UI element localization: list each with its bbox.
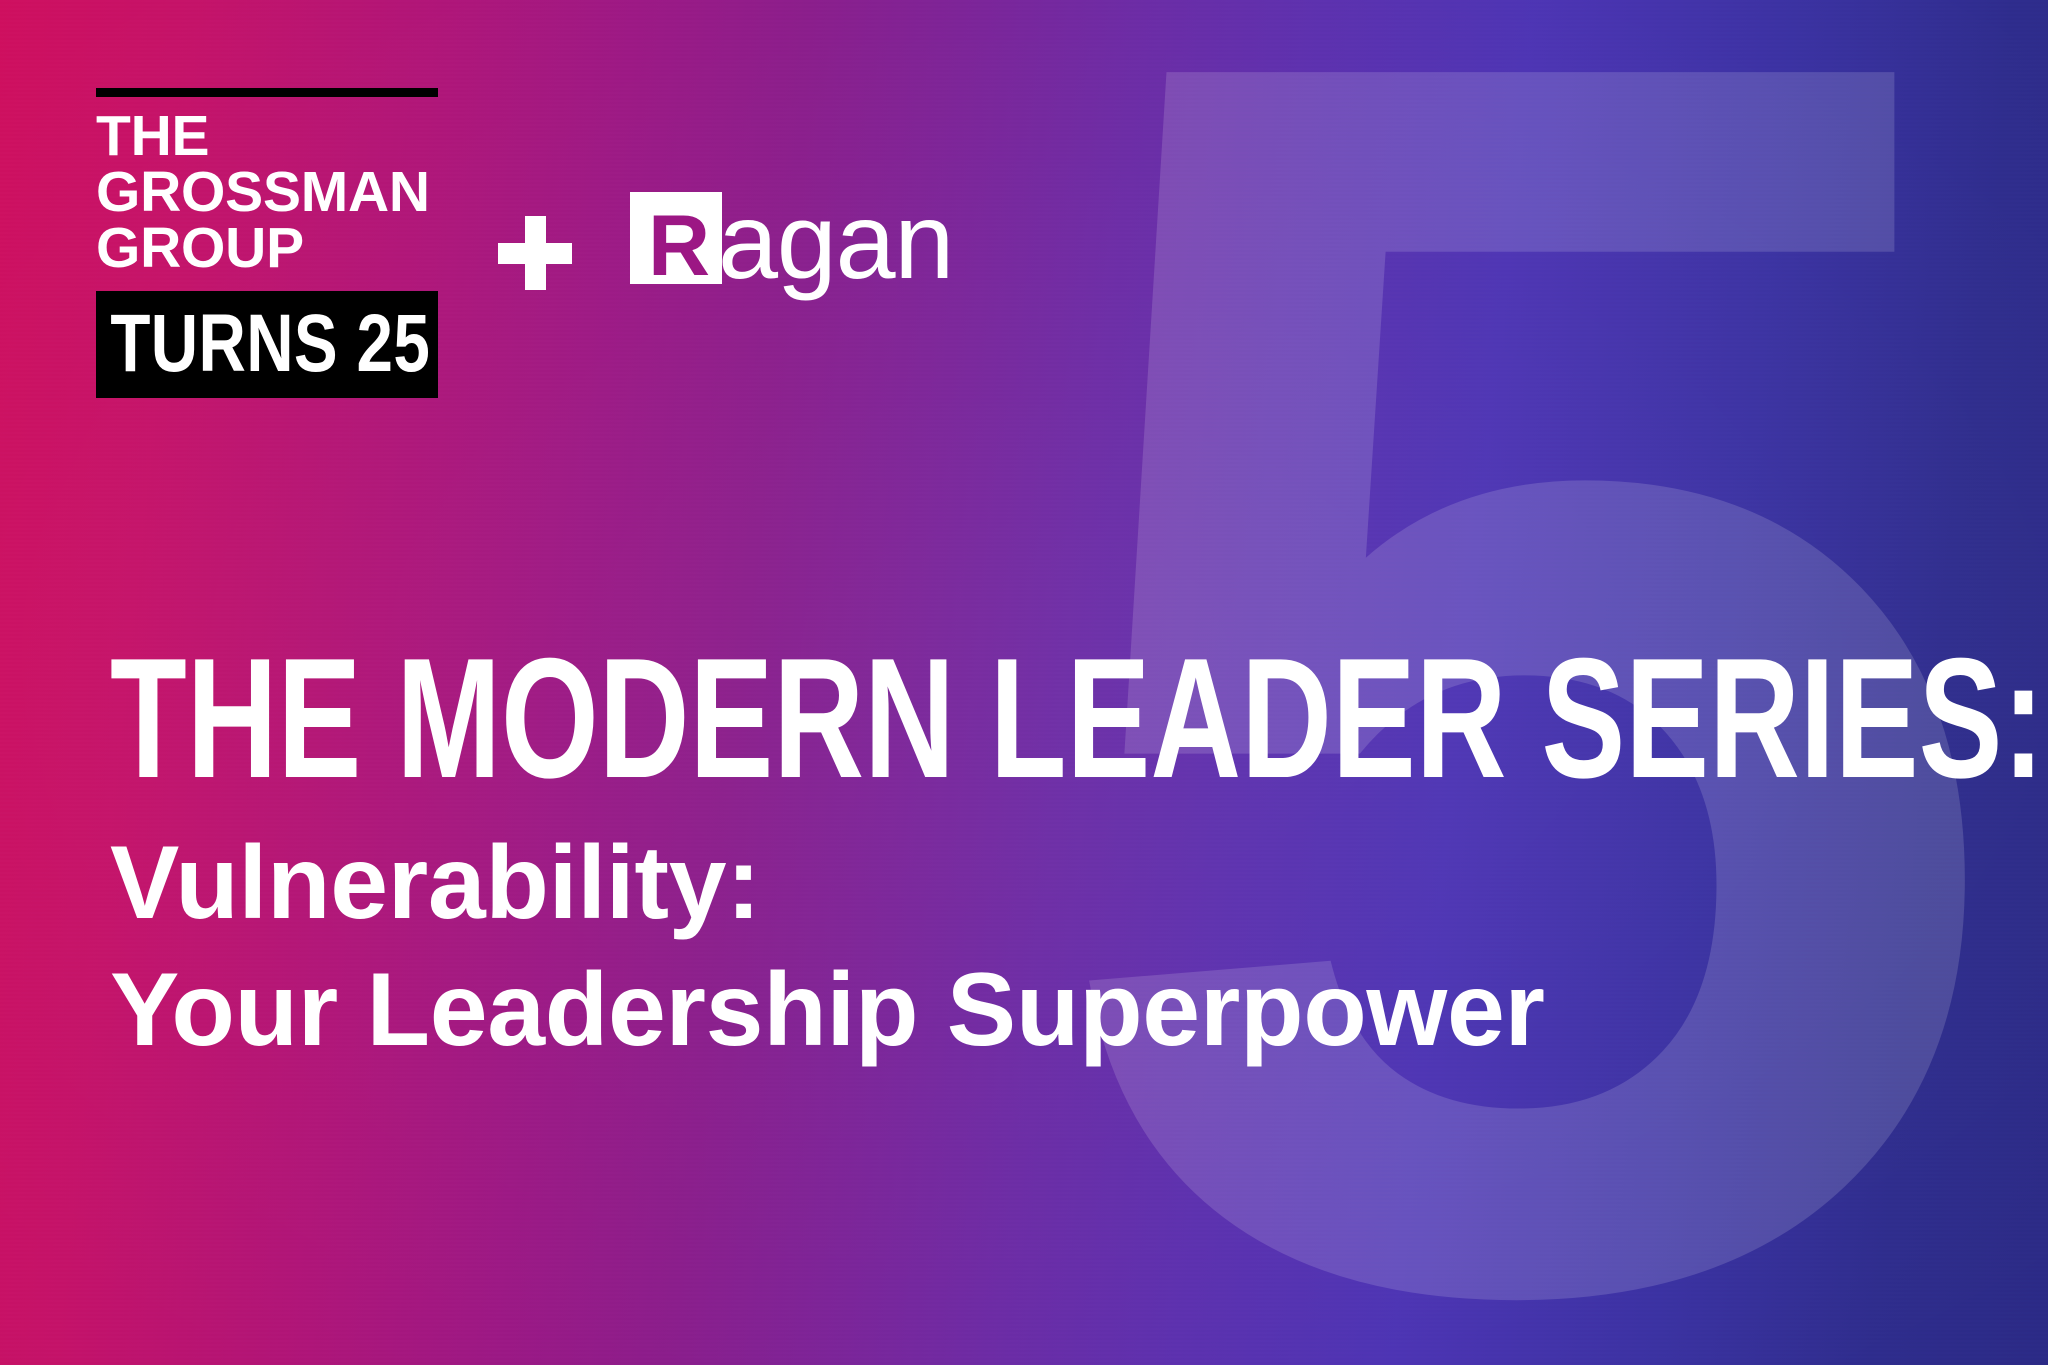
ragan-mark-letter: R — [648, 208, 710, 285]
subtitle-line-2: Your Leadership Superpower — [110, 947, 1980, 1074]
ragan-logo: R agan — [630, 192, 953, 284]
logo-name-line-3: GROUP — [96, 221, 438, 277]
grossman-group-logo: THE GROSSMAN GROUP TURNS 25 — [96, 88, 438, 398]
anniversary-badge-label: TURNS 25 — [96, 303, 430, 385]
logo-name: THE GROSSMAN GROUP — [96, 109, 438, 277]
plus-icon — [498, 216, 572, 290]
logo-name-line-1: THE — [96, 109, 438, 165]
logo-top-rule — [96, 88, 438, 97]
anniversary-badge: TURNS 25 — [96, 291, 438, 398]
logo-name-line-2: GROSSMAN — [96, 165, 438, 221]
promo-slide: 5 THE GROSSMAN GROUP TURNS 25 R agan THE… — [0, 0, 2048, 1365]
ragan-mark-icon: R — [630, 192, 722, 284]
title-block: THE MODERN LEADER SERIES: Vulnerability:… — [110, 636, 1980, 1074]
ragan-wordmark: agan — [718, 198, 953, 284]
series-eyebrow: THE MODERN LEADER SERIES: — [110, 636, 1484, 802]
subtitle-line-1: Vulnerability: — [110, 820, 1980, 947]
